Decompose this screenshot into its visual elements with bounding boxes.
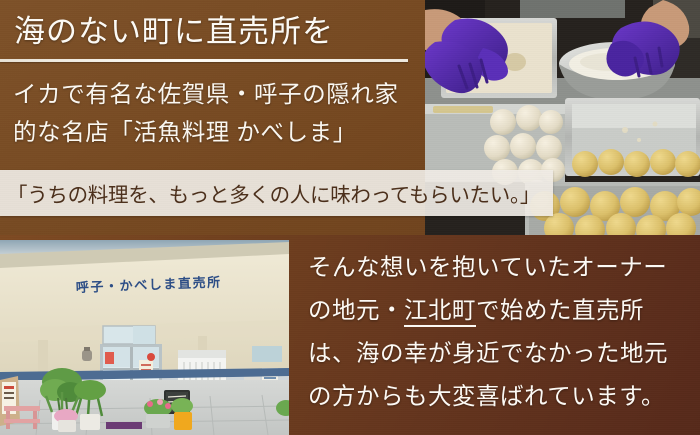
quote-band: 「うちの料理を、もっと多くの人に味わってもらいたい。」 — [0, 170, 553, 216]
body-copy: そんな想いを抱いていたオーナー の地元・江北町で始めた直売所 は、海の幸が身近で… — [308, 247, 693, 419]
promo-banner: 海のない町に直売所を イカで有名な佐賀県・呼子の隠れ家 的な名店「活魚料理 かべ… — [0, 0, 700, 435]
quote-text: 「うちの料理を、もっと多くの人に味わってもらいたい。」 — [0, 178, 540, 208]
body-line-2: の地元・江北町で始めた直売所 — [308, 290, 693, 333]
body-line-3: は、海の幸が身近でなかった地元 — [308, 333, 693, 376]
page-title: 海のない町に直売所を — [14, 6, 414, 58]
body-line-2-post: で始めた直売所 — [476, 298, 644, 324]
subtitle: イカで有名な佐賀県・呼子の隠れ家 的な名店「活魚料理 かべしま」 — [13, 76, 418, 152]
town-name-underlined: 江北町 — [404, 298, 476, 327]
body-line-1: そんな想いを抱いていたオーナー — [308, 247, 693, 290]
title-divider — [0, 59, 408, 62]
subtitle-line-1: イカで有名な佐賀県・呼子の隠れ家 — [13, 76, 418, 114]
storefront-photo-illustration: 呼子・かべしま直売所 — [0, 240, 289, 435]
body-line-2-pre: の地元・ — [308, 298, 404, 324]
storefront-photo: 呼子・かべしま直売所 — [0, 240, 289, 435]
top-section: 海のない町に直売所を イカで有名な佐賀県・呼子の隠れ家 的な名店「活魚料理 かべ… — [0, 0, 700, 235]
body-line-4: の方からも大変喜ばれています。 — [308, 376, 693, 419]
subtitle-line-2: 的な名店「活魚料理 かべしま」 — [13, 114, 418, 152]
